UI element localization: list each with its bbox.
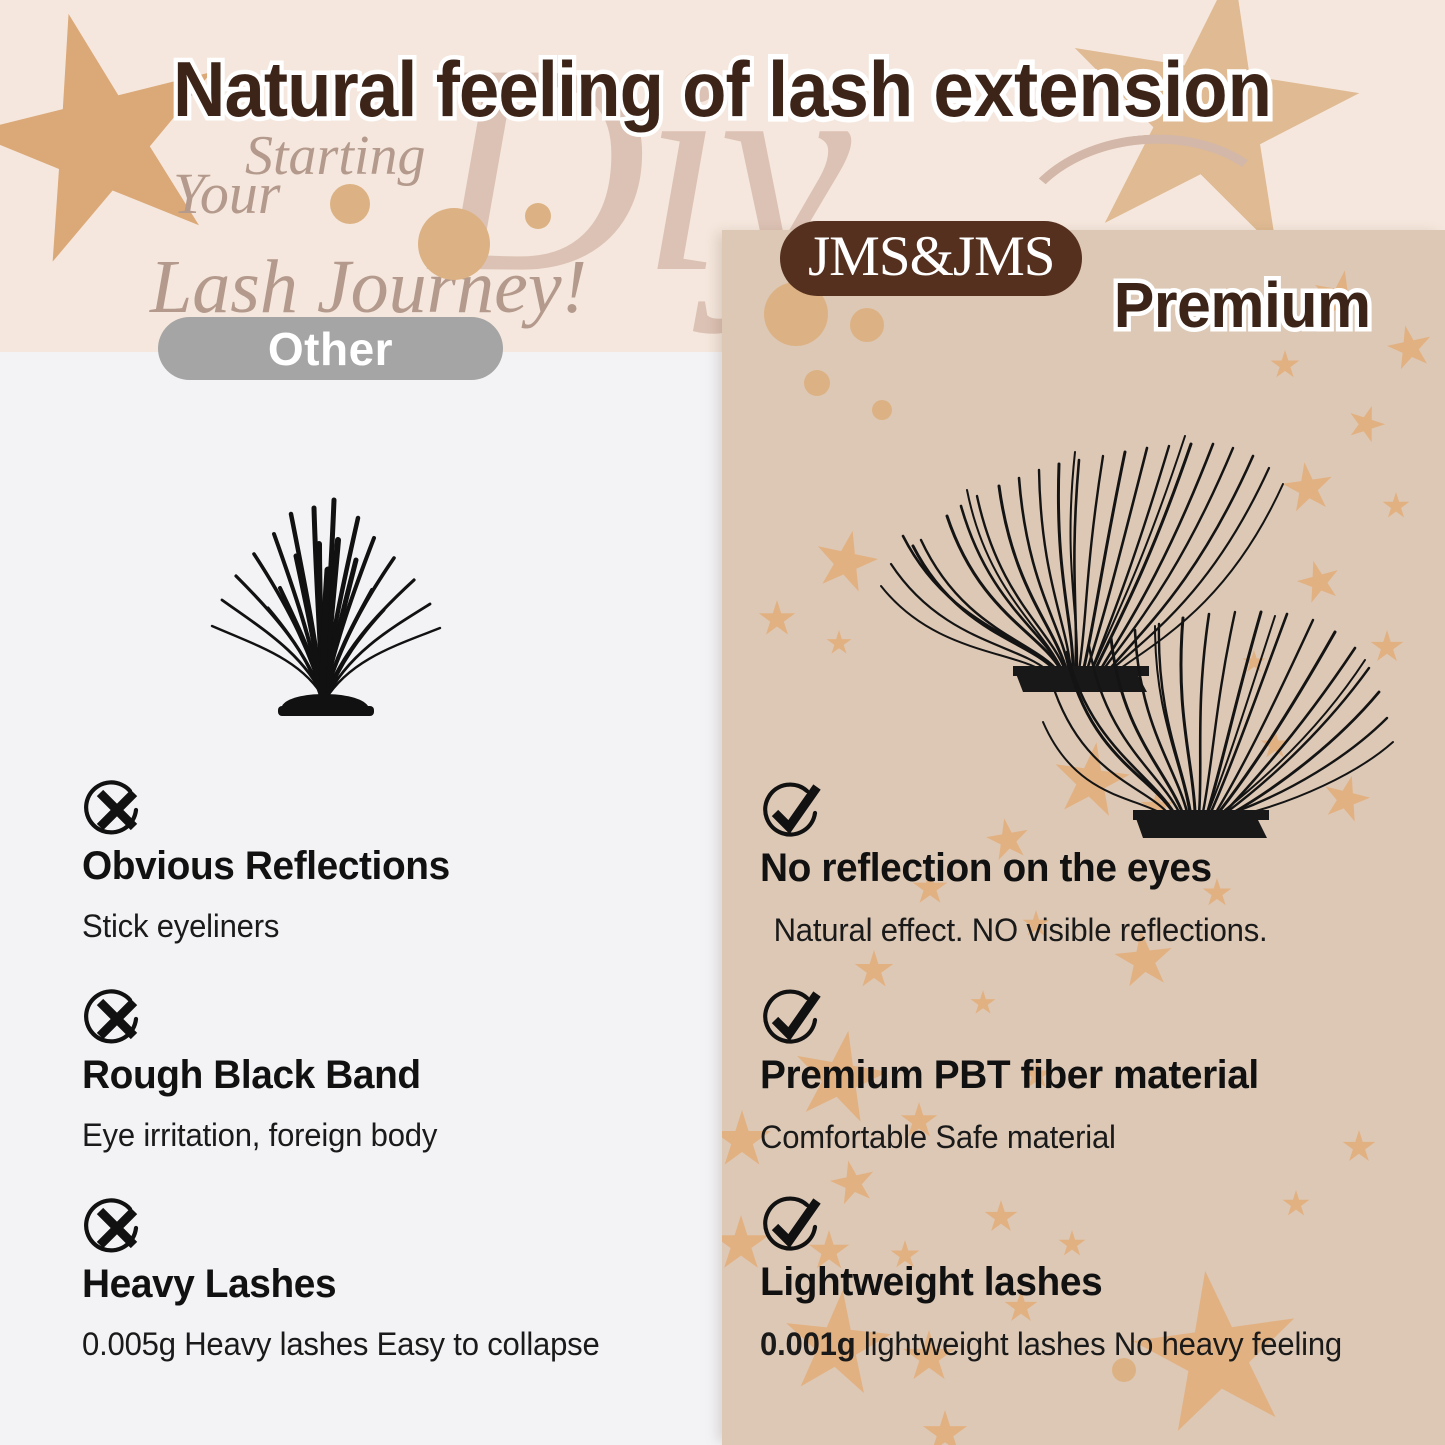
feature-desc: 0.001g lightweight lashes No heavy feeli… [760,1325,1400,1363]
decorative-dot-5 [850,308,884,342]
decorative-star-40 [922,1410,968,1445]
feature-item: Lightweight lashes 0.001g lightweight la… [760,1196,1420,1363]
x-mark-circle-icon [82,780,148,842]
feature-item: Premium PBT fiber material Comfortable S… [760,989,1420,1156]
feature-title: Heavy Lashes [82,1262,664,1307]
feature-title: Lightweight lashes [760,1260,1400,1305]
check-circle-icon [760,1196,826,1258]
decorative-dot-2 [418,208,490,280]
script-line-your: Your [173,160,281,227]
premium-feature-list: No reflection on the eyes Natural effect… [760,782,1420,1404]
decorative-star-8 [758,600,796,638]
brand-badge-jms: JMS&JMS [780,221,1082,296]
feature-title: No reflection on the eyes [760,846,1400,891]
feature-desc: Stick eyeliners [82,907,664,945]
feature-item: Obvious Reflections Stick eyeliners [82,780,682,945]
feature-title: Rough Black Band [82,1053,664,1098]
feature-item: Rough Black Band Eye irritation, foreign… [82,989,682,1154]
check-circle-icon [760,989,826,1051]
other-feature-list: Obvious Reflections Stick eyeliners Roug… [82,780,682,1408]
feature-desc-rest: lightweight lashes No heavy feeling [855,1326,1342,1362]
feature-title: Premium PBT fiber material [760,1053,1400,1098]
feature-desc: Natural effect. NO visible reflections. [760,911,1400,949]
infographic-canvas: Diy Starting Your Lash Journey! Natural … [0,0,1445,1445]
feature-desc: 0.005g Heavy lashes Easy to collapse [82,1325,664,1363]
page-title: Natural feeling of lash extension [51,50,1395,128]
decorative-dot-1 [330,184,370,224]
page-title-heavy: lash extension [768,45,1272,133]
other-lash-cluster-image [178,448,468,718]
check-circle-icon [760,782,826,844]
feature-item: No reflection on the eyes Natural effect… [760,782,1420,949]
feature-desc-weight: 0.001g [760,1326,855,1362]
x-mark-circle-icon [82,1198,148,1260]
page-title-light: Natural feeling of [173,45,768,133]
feature-desc: Comfortable Safe material [760,1118,1400,1156]
feature-desc: Eye irritation, foreign body [82,1116,664,1154]
feature-title: Obvious Reflections [82,844,664,889]
premium-badge: Premium [1114,268,1371,342]
x-mark-circle-icon [82,989,148,1051]
feature-item: Heavy Lashes 0.005g Heavy lashes Easy to… [82,1198,682,1363]
decorative-dot-3 [525,203,551,229]
other-badge: Other [158,317,503,380]
premium-lash-clusters-image [817,340,1397,850]
